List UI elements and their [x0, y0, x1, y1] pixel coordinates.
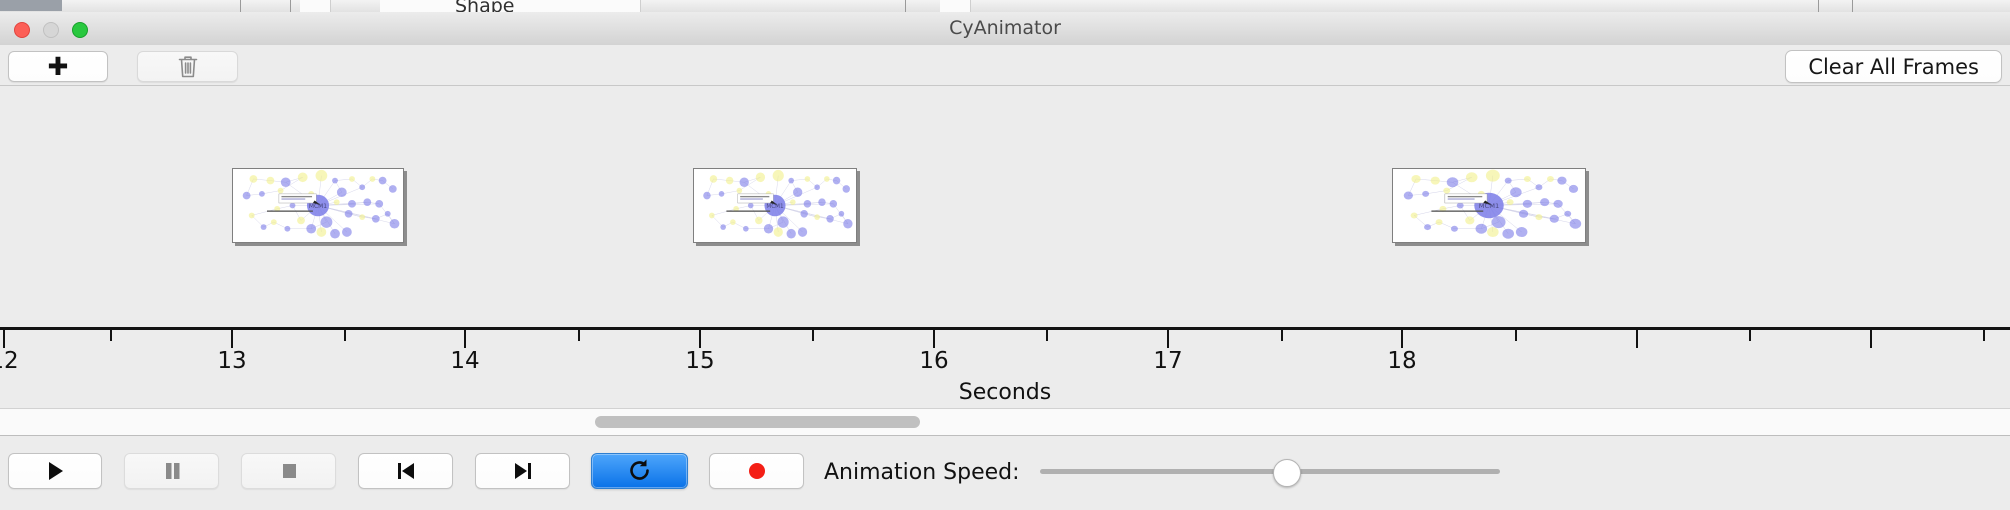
svg-text:MCM1: MCM1 — [309, 204, 327, 210]
axis-tick — [3, 330, 5, 348]
animation-speed-slider-knob[interactable] — [1273, 459, 1301, 487]
axis-tick — [344, 330, 346, 341]
axis-tick — [1870, 330, 1872, 348]
stop-button[interactable] — [241, 453, 336, 489]
background-panel-c — [940, 0, 971, 12]
record-icon — [744, 458, 770, 484]
play-icon — [42, 458, 68, 484]
axis-tick — [933, 330, 935, 348]
axis-tick — [699, 330, 701, 348]
playback-control-bar: Animation Speed: — [0, 435, 2010, 510]
background-panel-a — [300, 0, 331, 12]
window-title: CyAnimator — [0, 12, 2010, 45]
clear-all-frames-label: Clear All Frames — [1808, 55, 1979, 79]
axis-tick-label: 12 — [0, 348, 19, 374]
background-divider-2 — [290, 0, 291, 12]
svg-text:MCM1: MCM1 — [766, 204, 784, 210]
trash-icon — [177, 54, 199, 79]
skip-back-icon — [393, 458, 419, 484]
axis-tick-label: 15 — [685, 348, 714, 374]
frame-toolbar: ✚ Clear All Frames — [0, 45, 2010, 86]
axis-tick — [1401, 330, 1403, 348]
axis-tick — [1281, 330, 1283, 341]
axis-tick — [578, 330, 580, 341]
skip-forward-icon — [510, 458, 536, 484]
axis-title: Seconds — [0, 380, 2010, 405]
background-titlebar-chip — [0, 0, 62, 11]
svg-text:MCM1: MCM1 — [1479, 203, 1500, 209]
axis-tick-label: 16 — [919, 348, 948, 374]
animation-speed-slider-track[interactable] — [1040, 469, 1500, 474]
animation-speed-label: Animation Speed: — [824, 460, 1020, 485]
stop-icon — [276, 458, 302, 484]
delete-frame-button[interactable] — [137, 51, 238, 82]
axis-tick-label: 14 — [450, 348, 479, 374]
axis-tick — [1167, 330, 1169, 348]
timeline-panel[interactable]: MCM1MCM1MCM1 12131415161718 Seconds — [0, 86, 2010, 408]
axis-tick — [1636, 330, 1638, 348]
title-bar: CyAnimator — [0, 12, 2010, 46]
timeline-frame-thumbnail[interactable]: MCM1 — [1392, 168, 1586, 243]
clear-all-frames-button[interactable]: Clear All Frames — [1785, 50, 2002, 83]
timeline-scrollbar[interactable] — [0, 408, 2010, 436]
timeline-frame-thumbnail[interactable]: MCM1 — [232, 168, 404, 243]
plus-icon: ✚ — [48, 54, 69, 79]
axis-tick — [1983, 330, 1985, 341]
loop-button[interactable] — [591, 453, 688, 489]
axis-tick-label: 13 — [217, 348, 246, 374]
axis-tick — [464, 330, 466, 348]
timeline-axis — [0, 327, 2010, 330]
axis-tick — [231, 330, 233, 348]
background-divider-5 — [1852, 0, 1853, 12]
background-divider-4 — [1818, 0, 1819, 12]
axis-tick-label: 18 — [1387, 348, 1416, 374]
timeline-scrollbar-thumb[interactable] — [595, 416, 920, 428]
timeline-frame-thumbnail[interactable]: MCM1 — [693, 168, 857, 243]
pause-icon — [159, 458, 185, 484]
axis-tick — [110, 330, 112, 341]
axis-tick-label: 17 — [1153, 348, 1182, 374]
skip-to-start-button[interactable] — [358, 453, 453, 489]
add-frame-button[interactable]: ✚ — [8, 51, 108, 82]
axis-tick — [1515, 330, 1517, 341]
pause-button[interactable] — [124, 453, 219, 489]
skip-to-end-button[interactable] — [475, 453, 570, 489]
background-divider-1 — [240, 0, 241, 12]
cyanimator-window: Shape CyAnimator ✚ Clear All Frames MCM1… — [0, 0, 2010, 510]
loop-icon — [626, 457, 654, 485]
record-button[interactable] — [709, 453, 804, 489]
background-divider-3 — [905, 0, 906, 12]
axis-tick — [1749, 330, 1751, 341]
axis-tick — [1046, 330, 1048, 341]
axis-tick — [812, 330, 814, 341]
play-button[interactable] — [8, 453, 102, 489]
